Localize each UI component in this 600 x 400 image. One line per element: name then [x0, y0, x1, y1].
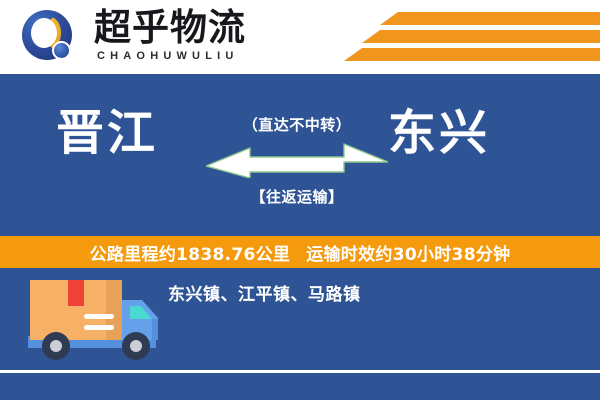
header-stripe-1: [380, 12, 600, 25]
destination-city-label: 东兴: [388, 104, 490, 162]
bidirectional-arrow-icon: [206, 142, 388, 178]
delivery-truck-icon: [26, 274, 166, 366]
logo-crescent-cutout: [31, 18, 57, 48]
coverage-areas-label: 东兴镇、江平镇、马路镇: [168, 280, 361, 305]
logistics-route-banner: 超乎物流 CHAOHUWULIU 晋江 （直达不中转） 【往返运输】 东兴: [0, 0, 600, 400]
route-note-roundtrip: 【往返运输】: [212, 186, 382, 207]
brand-name-chinese: 超乎物流: [94, 8, 246, 48]
route-note-direct: （直达不中转）: [212, 114, 382, 135]
route-section: 晋江 （直达不中转） 【往返运输】 东兴: [0, 74, 600, 234]
banner-body: 晋江 （直达不中转） 【往返运输】 东兴 公路里程约1838.76公里 运输时效…: [0, 74, 600, 400]
logo-accent-dot: [52, 41, 71, 60]
banner-header: 超乎物流 CHAOHUWULIU: [0, 0, 600, 74]
header-stripe-3: [344, 48, 600, 61]
bottom-divider: [0, 370, 600, 373]
distance-label: 公路里程约1838.76公里: [90, 240, 291, 265]
header-stripe-2: [362, 30, 600, 43]
brand-logo-icon: [22, 10, 78, 66]
duration-label: 运输时效约30小时38分钟: [306, 240, 510, 265]
brand-name-pinyin: CHAOHUWULIU: [97, 50, 239, 62]
route-middle-group: （直达不中转） 【往返运输】: [212, 102, 382, 222]
route-info-bar: 公路里程约1838.76公里 运输时效约30小时38分钟: [0, 236, 600, 268]
origin-city-label: 晋江: [56, 104, 158, 162]
